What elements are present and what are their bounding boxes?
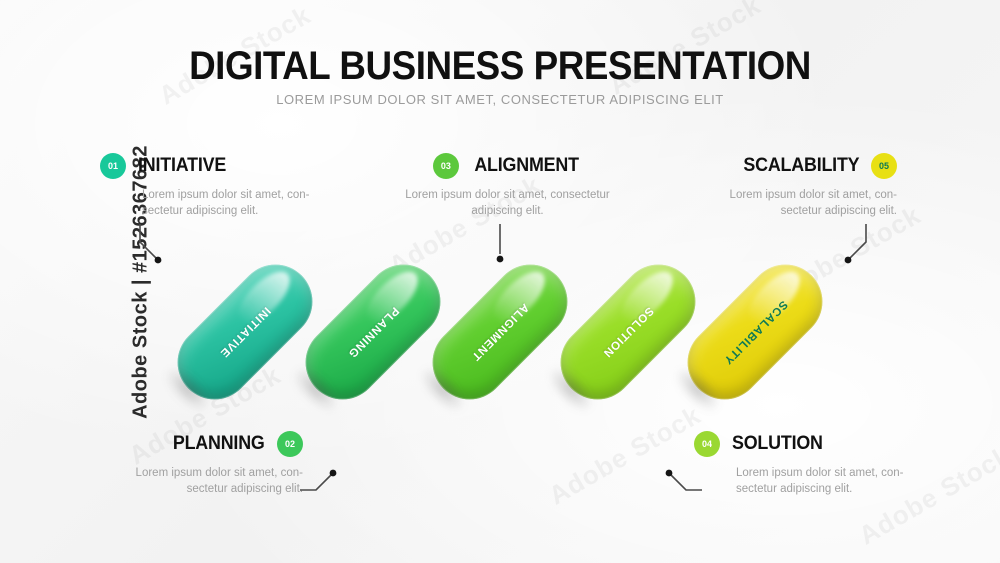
infographic-canvas: Adobe Stock Adobe Stock Adobe Stock Adob…	[0, 0, 1000, 563]
capsule-scalability[interactable]: SCALABILITY	[672, 249, 837, 414]
capsule-row: INITIATIVE PLANNING ALIGNMENT SOLUTION S…	[0, 0, 1000, 563]
